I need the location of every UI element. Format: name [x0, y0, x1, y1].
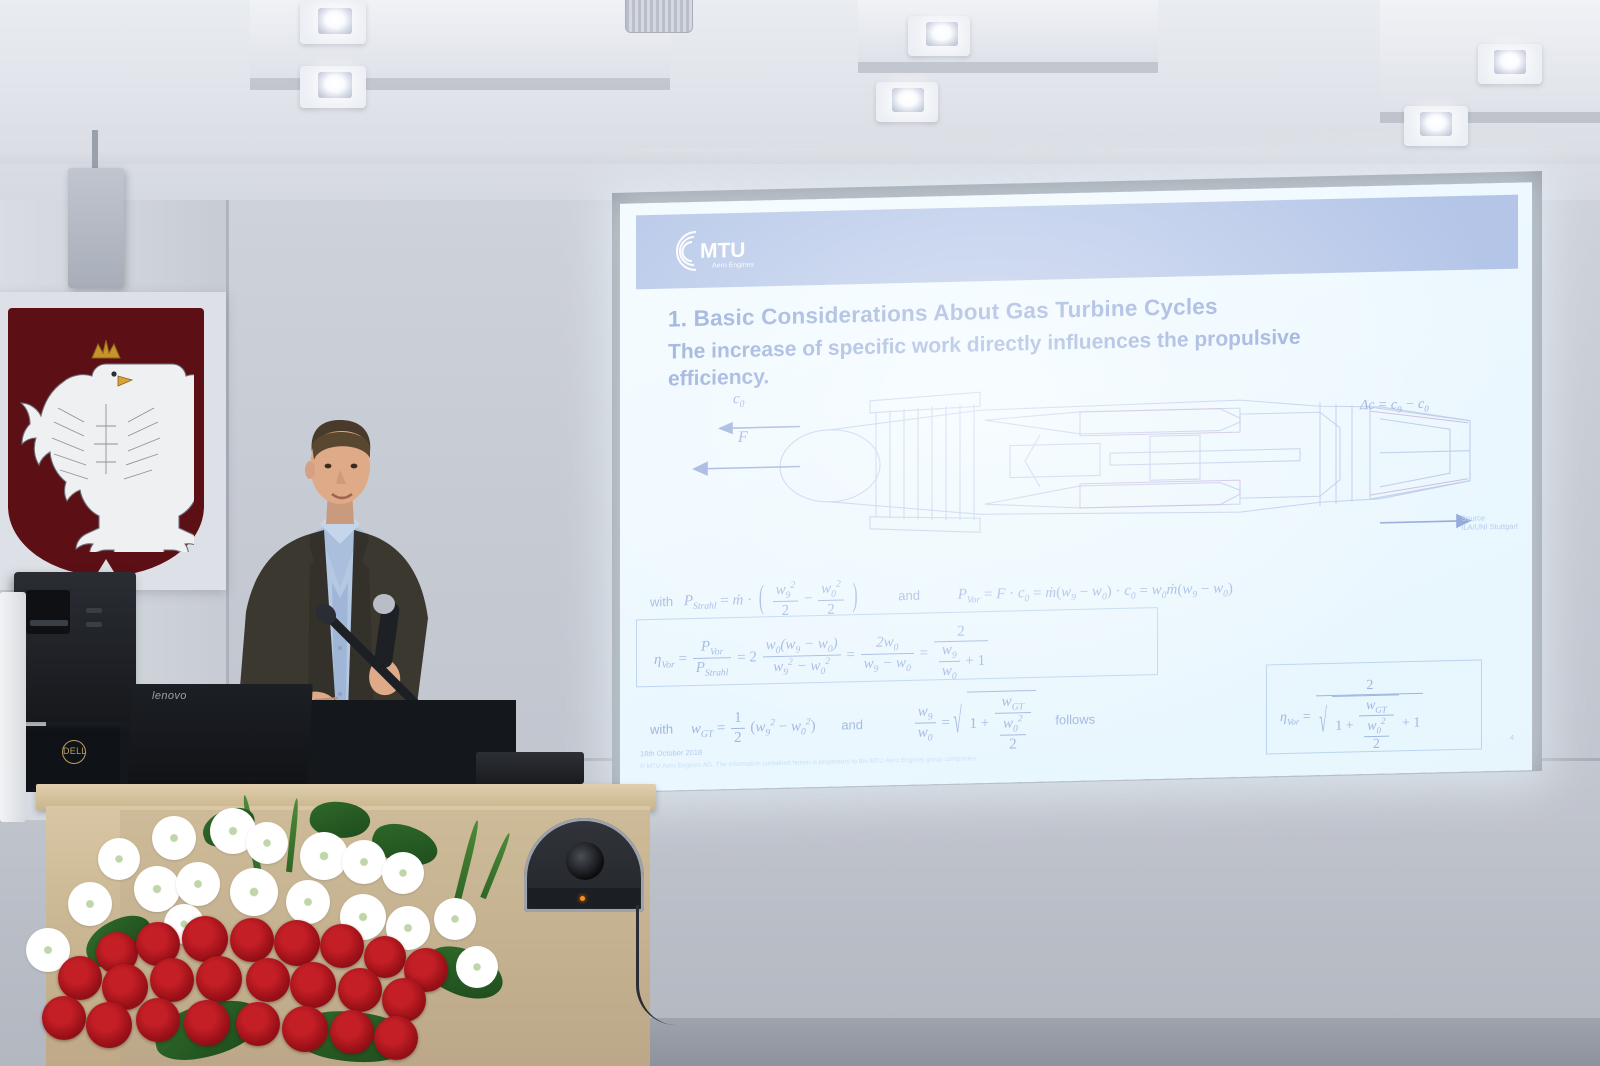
slide-footer-date: 18th October 2018 [640, 748, 702, 758]
mtu-logo-tagline: Aero Engines [712, 262, 755, 270]
white-flower [134, 866, 180, 912]
camera-cable [636, 905, 729, 1025]
and-label-2: and [841, 717, 863, 733]
formula-eta-final: ηVor = 2 1 + wGTw022 + 1 [1280, 677, 1425, 756]
monitor-port-2 [86, 608, 102, 613]
ceiling-light-2 [318, 72, 352, 98]
ceiling-soffit-shadow-mid [858, 62, 1158, 73]
red-flower [58, 956, 102, 1000]
white-flower [300, 832, 348, 880]
presentation-photo: MTU Aero Engines 1. Basic Considerations… [0, 0, 1600, 1066]
wall-speaker-bracket [92, 130, 98, 170]
red-flower [236, 1002, 280, 1046]
red-flower [330, 1010, 374, 1054]
diagram-label-c0: c0 [733, 391, 744, 410]
monitor-port-3 [86, 622, 102, 627]
ceiling-light-3 [926, 22, 958, 46]
white-flower [246, 822, 288, 864]
red-flower [290, 962, 336, 1008]
white-flower [286, 880, 330, 924]
ceiling-beam [0, 148, 1600, 164]
formula-row-2: ηVor = PVorPStrahl = 2 w0(w9 − w0)w92 − … [654, 623, 990, 690]
red-flower [274, 920, 320, 966]
red-flower [196, 956, 242, 1002]
red-flower [182, 916, 228, 962]
formula-row-3: with wGT = 12 (w92 − w02) and w9w0 = 1 +… [650, 689, 1095, 763]
monitor-arm[interactable] [0, 592, 26, 822]
red-flower [320, 924, 364, 968]
red-flower [184, 1000, 230, 1046]
diagram-label-delta-c: Δc = c9 − c0 [1360, 397, 1429, 415]
projection-screen: MTU Aero Engines 1. Basic Considerations… [620, 182, 1532, 791]
white-flower [382, 852, 424, 894]
diagram-label-thrust: F [738, 429, 748, 447]
grass-blade [286, 798, 300, 872]
ceiling-soffit-mid [858, 0, 1158, 62]
mtu-logo-icon: MTU Aero Engines [666, 226, 786, 275]
white-flower [456, 946, 498, 988]
red-flower [246, 958, 290, 1002]
white-flower [434, 898, 476, 940]
white-flower [152, 816, 196, 860]
ceiling-vent [625, 0, 693, 33]
red-flower [136, 998, 180, 1042]
wall-speaker [68, 168, 124, 288]
and-label-1: and [898, 588, 920, 604]
slide: MTU Aero Engines 1. Basic Considerations… [620, 182, 1532, 791]
red-flower [42, 996, 86, 1040]
white-flower [98, 838, 140, 880]
flower-bouquet [24, 800, 584, 1066]
ceiling-light-6 [1420, 112, 1452, 136]
red-flower [282, 1006, 328, 1052]
slide-number: 4 [1510, 735, 1514, 742]
diagram-source: Source ILA/UNI Stuttgart [1461, 513, 1518, 532]
white-flower [230, 868, 278, 916]
turbofan-engine-cutaway-icon [680, 368, 1480, 552]
ceiling-light-4 [892, 88, 924, 112]
white-flower [342, 840, 386, 884]
white-flower [68, 882, 112, 926]
red-flower [86, 1002, 132, 1048]
white-flower [176, 862, 220, 906]
with-label-1: with [650, 594, 673, 610]
grass-blade [480, 832, 512, 899]
ceiling [0, 0, 1600, 200]
with-label-2: with [650, 721, 673, 737]
lenovo-logo: lenovo [152, 690, 187, 702]
floor [640, 1018, 1600, 1066]
monitor-vesa-plate [26, 590, 70, 634]
white-eagle-emblem [18, 330, 194, 552]
red-flower [382, 978, 426, 1022]
monitor-port-1 [30, 620, 68, 626]
grass-blade [454, 820, 481, 901]
ceiling-light-1 [318, 8, 352, 34]
red-flower [230, 918, 274, 962]
ceiling-light-5 [1494, 50, 1526, 74]
mtu-logo-name: MTU [700, 239, 745, 263]
projector-control-box[interactable] [476, 752, 584, 784]
red-flower [150, 958, 194, 1002]
red-flower [374, 1016, 418, 1060]
source-text: ILA/UNI Stuttgart [1461, 522, 1518, 532]
follows-label: follows [1055, 712, 1095, 728]
dell-logo: DELL [62, 740, 86, 764]
red-flower [338, 968, 382, 1012]
